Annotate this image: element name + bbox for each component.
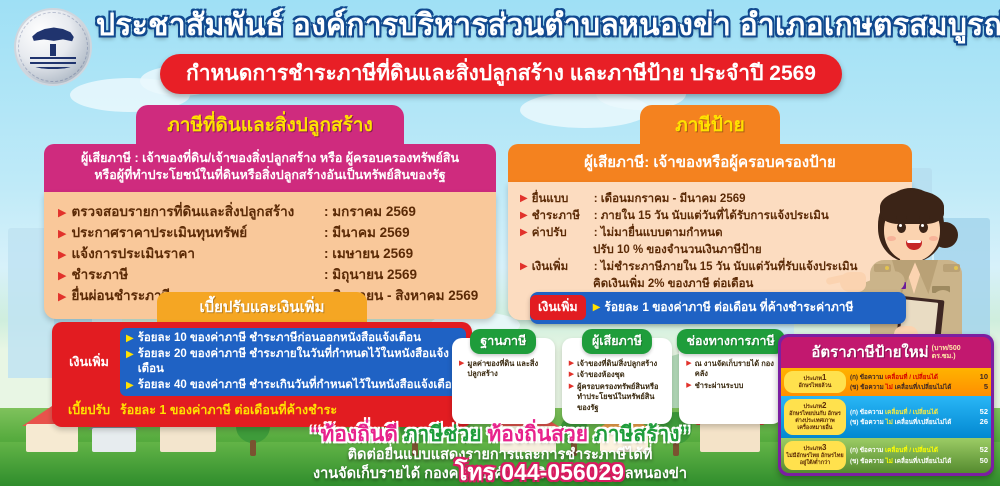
page-subtitle: กำหนดการชำระภาษีที่ดินและสิ่งปลูกสร้าง แ…	[160, 54, 842, 94]
rate-line-highlight: เคลื่อนที่ / เปลี่ยนได้	[885, 409, 938, 416]
rate-type-number: 1	[822, 373, 826, 382]
list-item: ▶ มูลค่าของที่ดิน และสิ่งปลูกสร้าง	[459, 358, 548, 380]
rate-amount: 10	[970, 372, 988, 382]
detail-key: เงินเพิ่ม	[532, 259, 594, 275]
rate-type-desc: อักษรไทยล้วน	[798, 383, 831, 389]
schedule-label: ตรวจสอบรายการที่ดินและสิ่งปลูกสร้าง	[71, 203, 324, 222]
schedule-value: : มีนาคม 2569	[324, 224, 484, 243]
penalty-surcharge-group: เงินเพิ่ม ▶ ร้อยละ 10 ของค่าภาษี ชำระภาษ…	[58, 328, 466, 396]
infographic-poster: ประชาสัมพันธ์ องค์การบริหารส่วนตำบลหนองข…	[0, 0, 1000, 486]
tree-seal-icon	[29, 23, 76, 70]
table-row: ▶ ประกาศราคาประเมินทุนทรัพย์ : มีนาคม 25…	[58, 223, 484, 244]
penalty-tab: เบี้ยปรับและเงินเพิ่ม	[157, 292, 367, 323]
schedule-value: : มิถุนายน 2569	[324, 266, 484, 285]
rate-table-unit: (บาท/500ตร.ซม.)	[932, 345, 961, 361]
card-title: ผู้เสียภาษี	[582, 329, 652, 354]
land-tax-payer-line2: หรือผู้ที่ทำประโยชน์ในที่ดินหรือสิ่งปลูก…	[54, 167, 486, 184]
rate-line-prefix: (ก) ข้อความ	[850, 374, 883, 381]
page-title: ประชาสัมพันธ์ องค์การบริหารส่วนตำบลหนองข…	[96, 7, 996, 45]
triangle-bullet-icon: ▶	[569, 359, 574, 370]
triangle-bullet-icon: ▶	[58, 267, 66, 285]
triangle-bullet-icon: ▶	[569, 370, 574, 381]
rate-amount: 5	[970, 382, 988, 392]
rate-type-prefix: ประเภท	[804, 404, 823, 410]
schedule-label: แจ้งการประเมินราคา	[71, 245, 324, 264]
rate-type-prefix: ประเภท	[804, 376, 823, 382]
rate-table-title-text: อัตราภาษีป้ายใหม่	[811, 344, 928, 361]
surcharge-text: ร้อยละ 40 ของค่าภาษี ชำระเกินวันที่กำหนด…	[138, 378, 460, 394]
card-title: ฐานภาษี	[470, 329, 536, 354]
note-value: ร้อยละ 1 ของค่าภาษี ต่อเดือน ที่ค้างชำระ…	[604, 298, 853, 317]
rate-type-pill: ประเภท1 อักษรไทยล้วน	[784, 371, 846, 393]
triangle-bullet-icon: ▶	[126, 378, 134, 394]
triangle-bullet-icon: ▶	[58, 246, 66, 264]
rate-row-type-1: ประเภท1 อักษรไทยล้วน (ก) ข้อความ เคลื่อน…	[781, 368, 991, 396]
rate-amount: 52	[970, 407, 988, 417]
list-item: ▶ ร้อยละ 10 ของค่าภาษี ชำระภาษีก่อนออกหน…	[126, 331, 460, 347]
info-cards: ฐานภาษี ▶ มูลค่าของที่ดิน และสิ่งปลูกสร้…	[452, 338, 782, 424]
signboard-surcharge-note: เงินเพิ่ม ▶ ร้อยละ 1 ของค่าภาษี ต่อเดือน…	[530, 292, 906, 324]
rate-line-prefix: (ข) ข้อความ	[850, 384, 884, 391]
schedule-value: : มกราคม 2569	[324, 203, 484, 222]
rate-line-text: (ข) ข้อความ ไม่ เคลื่อนที่/เปลี่ยนไม่ได้	[850, 383, 970, 393]
list-item: ▶ ณ งานจัดเก็บรายได้ กองคลัง	[686, 358, 775, 380]
triangle-bullet-icon: ▶	[593, 302, 601, 313]
list-item: ▶ ร้อยละ 20 ของค่าภาษี ชำระภายในวันที่กำ…	[126, 347, 460, 378]
organization-logo	[14, 8, 92, 86]
rate-type-number: 2	[822, 401, 826, 410]
card-item-text: ชำระผ่านระบบ	[695, 381, 744, 392]
triangle-bullet-icon: ▶	[520, 191, 528, 207]
schedule-label: ชำระภาษี	[71, 266, 324, 285]
table-row: ▶ ตรวจสอบรายการที่ดินและสิ่งปลูกสร้าง : …	[58, 202, 484, 223]
detail-key: ค่าปรับ	[532, 225, 594, 241]
triangle-bullet-icon: ▶	[520, 225, 528, 241]
card-item-text: เจ้าของห้องชุด	[577, 370, 625, 381]
note-label: เงินเพิ่ม	[530, 295, 586, 320]
land-tax-panel: ภาษีที่ดินและสิ่งปลูกสร้าง ผู้เสียภาษี :…	[44, 105, 496, 319]
surcharge-text: ร้อยละ 20 ของค่าภาษี ชำระภายในวันที่กำหน…	[138, 347, 460, 378]
land-tax-tab: ภาษีที่ดินและสิ่งปลูกสร้าง	[136, 105, 404, 146]
signboard-tax-tab: ภาษีป้าย	[640, 105, 780, 146]
card-item-text: ผู้ครอบครองทรัพย์สินหรือ ทำประโยชน์ในทรั…	[577, 382, 665, 414]
triangle-bullet-icon: ▶	[58, 204, 66, 222]
unit-line1: (บาท/500	[932, 345, 961, 352]
list-item: ▶ เจ้าของที่ดิน/สิ่งปลูกสร้าง	[569, 358, 666, 370]
slogan-part-1: “ท้องถิ่นดี	[310, 423, 404, 446]
slogan-part-4: ภาษีสร้าง”	[594, 423, 690, 446]
detail-key: ยื่นแบบ	[532, 191, 594, 207]
rate-line-a: (ก) ข้อความ เคลื่อนที่ / เปลี่ยนได้ 10	[850, 372, 988, 383]
surcharge-lines: ▶ ร้อยละ 10 ของค่าภาษี ชำระภาษีก่อนออกหน…	[120, 328, 466, 396]
signboard-tax-payer: ผู้เสียภาษี: เจ้าของหรือผู้ครอบครองป้าย	[508, 144, 912, 182]
triangle-bullet-icon: ▶	[686, 359, 691, 380]
card-item-text: เจ้าของที่ดิน/สิ่งปลูกสร้าง	[577, 359, 657, 370]
slogan-part-2: ภาษีช่วย	[404, 423, 488, 446]
list-item: ▶ ร้อยละ 40 ของค่าภาษี ชำระเกินวันที่กำห…	[126, 378, 460, 394]
table-row: ▶ แจ้งการประเมินราคา : เมษายน 2569	[58, 244, 484, 265]
unit-line2: ตร.ซม.)	[932, 353, 956, 360]
rate-line-tail: เคลื่อนที่/เปลี่ยนไม่ได้	[895, 384, 952, 391]
rate-line-a: (ก) ข้อความ เคลื่อนที่ / เปลี่ยนได้ 52	[850, 407, 988, 418]
phone-number: โทร 044-056029	[455, 455, 624, 486]
triangle-bullet-icon: ▶	[520, 208, 528, 224]
land-tax-payer: ผู้เสียภาษี : เจ้าของที่ดิน/เจ้าของสิ่งป…	[44, 144, 496, 192]
card-item-text: มูลค่าของที่ดิน และสิ่งปลูกสร้าง	[467, 359, 547, 380]
list-item: ▶ ผู้ครอบครองทรัพย์สินหรือ ทำประโยชน์ในท…	[569, 381, 666, 414]
triangle-bullet-icon: ▶	[520, 259, 528, 275]
rate-line-prefix: (ก) ข้อความ	[850, 409, 883, 416]
rate-line-text: (ก) ข้อความ เคลื่อนที่ / เปลี่ยนได้	[850, 373, 970, 383]
surcharge-text: ร้อยละ 10 ของค่าภาษี ชำระภาษีก่อนออกหนัง…	[138, 331, 421, 347]
schedule-value: : เมษายน 2569	[324, 245, 484, 264]
list-item: ▶ เจ้าของห้องชุด	[569, 370, 666, 382]
triangle-bullet-icon: ▶	[126, 331, 134, 347]
rate-table-title: อัตราภาษีป้ายใหม่(บาท/500ตร.ซม.)	[781, 337, 991, 368]
triangle-bullet-icon: ▶	[126, 347, 134, 378]
triangle-bullet-icon: ▶	[686, 381, 691, 392]
surcharge-label: เงินเพิ่ม	[58, 328, 120, 396]
card-tax-base: ฐานภาษี ▶ มูลค่าของที่ดิน และสิ่งปลูกสร้…	[452, 338, 555, 424]
card-title: ช่องทางการภาษี	[677, 329, 785, 354]
card-payment-channel: ช่องทางการภาษี ▶ ณ งานจัดเก็บรายได้ กองค…	[679, 338, 782, 424]
schedule-label: ประกาศราคาประเมินทุนทรัพย์	[71, 224, 324, 243]
triangle-bullet-icon: ▶	[569, 382, 574, 414]
detail-key: ชำระภาษี	[532, 208, 594, 224]
land-tax-payer-line1: ผู้เสียภาษี : เจ้าของที่ดิน/เจ้าของสิ่งป…	[54, 150, 486, 167]
triangle-bullet-icon: ▶	[459, 359, 464, 380]
table-row: ▶ ชำระภาษี : มิถุนายน 2569	[58, 265, 484, 286]
fine-label: เบี้ยปรับ	[58, 400, 120, 420]
penalty-panel: เบี้ยปรับและเงินเพิ่ม เงินเพิ่ม ▶ ร้อยละ…	[52, 292, 472, 427]
rate-line-highlight: ไม่	[886, 384, 893, 391]
rate-line-text: (ก) ข้อความ เคลื่อนที่ / เปลี่ยนได้	[850, 408, 970, 418]
rate-line-highlight: เคลื่อนที่ / เปลี่ยนได้	[885, 374, 938, 381]
card-taxpayer: ผู้เสียภาษี ▶ เจ้าของที่ดิน/สิ่งปลูกสร้า…	[562, 338, 673, 424]
slogan-part-3: ท้องถิ่นสวย	[487, 423, 594, 446]
card-item-text: ณ งานจัดเก็บรายได้ กองคลัง	[695, 359, 775, 380]
list-item: ▶ ชำระผ่านระบบ	[686, 380, 775, 392]
penalty-box: เงินเพิ่ม ▶ ร้อยละ 10 ของค่าภาษี ชำระภาษ…	[52, 322, 472, 427]
triangle-bullet-icon: ▶	[58, 225, 66, 243]
rate-lines: (ก) ข้อความ เคลื่อนที่ / เปลี่ยนได้ 10 (…	[846, 372, 988, 393]
rate-line-b: (ข) ข้อความ ไม่ เคลื่อนที่/เปลี่ยนไม่ได้…	[850, 382, 988, 393]
fine-text: ร้อยละ 1 ของค่าภาษี ต่อเดือนที่ค้างชำระ	[120, 400, 337, 420]
